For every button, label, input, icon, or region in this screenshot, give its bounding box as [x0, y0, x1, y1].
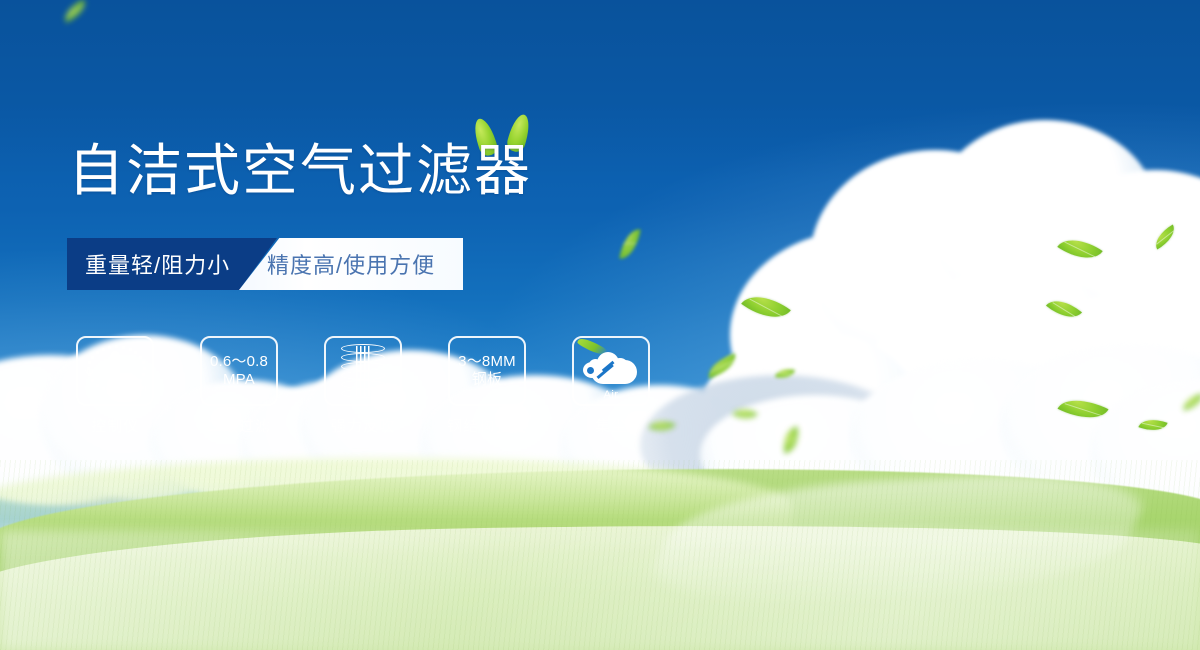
product-banner: 自洁式空气过滤器 重量轻/阻力小 精度高/使用方便	[0, 0, 1200, 650]
feature-item-pressure: 0.6～0.8 MPA 二级过滤	[191, 336, 287, 436]
steel-thickness: 3～8MM	[458, 353, 516, 371]
feature-icon-box: Air	[572, 336, 650, 406]
feature-label: 强力反吹	[315, 415, 411, 436]
pressure-range: 0.6～0.8	[210, 353, 268, 371]
feature-icon-box: 0.6～0.8 MPA	[200, 336, 278, 406]
steel-plate-text-icon: 3～8MM 钢板	[458, 353, 516, 390]
grass-texture	[0, 460, 1200, 650]
feature-item-control: NO OFF 控制仪	[67, 336, 163, 436]
feature-label: 集尘	[563, 415, 659, 436]
feature-label: 控制仪	[67, 415, 163, 436]
subtitle-left-text: 重量轻/阻力小	[85, 238, 230, 290]
pressure-text-icon: 0.6～0.8 MPA	[210, 353, 268, 390]
feature-icon-box: NO OFF	[76, 336, 154, 406]
gauge-needle	[110, 351, 120, 393]
pressure-unit: MPA	[210, 371, 268, 389]
cloud-bump-right	[611, 358, 629, 376]
subtitle-right-text: 精度高/使用方便	[267, 238, 435, 290]
feature-list: NO OFF 控制仪 0.6～0.8 MPA 二级过滤	[67, 336, 659, 436]
cloud-cutout	[587, 367, 594, 374]
feature-item-dust: Air 集尘	[563, 336, 659, 436]
steel-material: 钢板	[458, 371, 516, 389]
feature-item-steel: 3～8MM 钢板 钢结构强度	[439, 336, 535, 436]
feature-icon-box	[324, 336, 402, 406]
subtitle-badge: 重量轻/阻力小 精度高/使用方便	[67, 238, 463, 290]
gauge-icon: NO OFF	[84, 343, 146, 399]
feature-label: 钢结构强度	[439, 415, 535, 436]
cloud-air-label: Air	[581, 389, 641, 401]
gauge-label-on: NO	[84, 370, 94, 376]
feature-icon-box: 3～8MM 钢板	[448, 336, 526, 406]
feature-label: 二级过滤	[191, 415, 287, 436]
air-cloud-icon: Air	[581, 344, 641, 398]
grass-field	[0, 460, 1200, 650]
gauge-label-off: OFF	[135, 387, 148, 393]
banner-title: 自洁式空气过滤器	[68, 143, 532, 199]
feature-item-backblow: 强力反吹	[315, 336, 411, 436]
coil-filter-icon	[341, 344, 385, 398]
